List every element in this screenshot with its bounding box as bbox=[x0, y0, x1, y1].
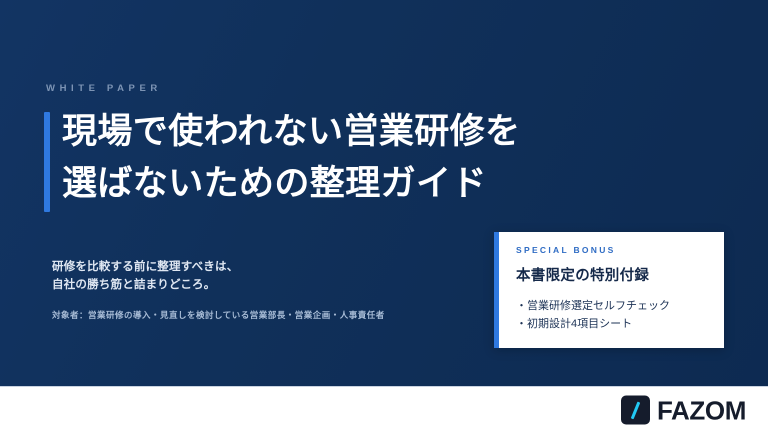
subtitle-line-2: 自社の勝ち筋と詰まりどころ。 bbox=[52, 276, 452, 294]
bonus-card-content: SPECIAL BONUS 本書限定の特別付録 ・営業研修選定セルフチェック ・… bbox=[516, 245, 712, 333]
slide-canvas: WHITE PAPER 現場で使われない営業研修を 選ばないための整理ガイド 研… bbox=[0, 0, 768, 386]
page-title: 現場で使われない営業研修を 選ばないための整理ガイド bbox=[62, 106, 622, 210]
bonus-card-accent-bar bbox=[494, 232, 499, 348]
special-bonus-card: SPECIAL BONUS 本書限定の特別付録 ・営業研修選定セルフチェック ・… bbox=[494, 232, 724, 348]
target-audience-label: 対象者：営業研修の導入・見直しを検討している営業部長・営業企画・人事責任者 bbox=[52, 309, 385, 321]
list-item: ・営業研修選定セルフチェック bbox=[516, 297, 712, 315]
title-line-2: 選ばないための整理ガイド bbox=[62, 158, 622, 210]
brand-logo: FAZOM bbox=[621, 396, 746, 425]
eyebrow-label: WHITE PAPER bbox=[46, 83, 162, 94]
slash-glyph bbox=[631, 401, 641, 419]
title-line-1: 現場で使われない営業研修を bbox=[62, 106, 622, 158]
subtitle-line-1: 研修を比較する前に整理すべきは、 bbox=[52, 258, 452, 276]
bonus-item-list: ・営業研修選定セルフチェック ・初期設計4項目シート bbox=[516, 297, 712, 333]
whitepaper-cover-slide: WHITE PAPER 現場で使われない営業研修を 選ばないための整理ガイド 研… bbox=[0, 0, 768, 432]
slash-mark-icon bbox=[621, 396, 650, 425]
subtitle-block: 研修を比較する前に整理すべきは、 自社の勝ち筋と詰まりどころ。 bbox=[52, 258, 452, 294]
logo-wordmark: FAZOM bbox=[657, 397, 746, 423]
bonus-heading: 本書限定の特別付録 bbox=[516, 264, 712, 285]
footer-bar: FAZOM bbox=[0, 386, 768, 432]
list-item: ・初期設計4項目シート bbox=[516, 315, 712, 333]
title-accent-bar bbox=[44, 112, 50, 212]
bonus-eyebrow-label: SPECIAL BONUS bbox=[516, 245, 712, 255]
